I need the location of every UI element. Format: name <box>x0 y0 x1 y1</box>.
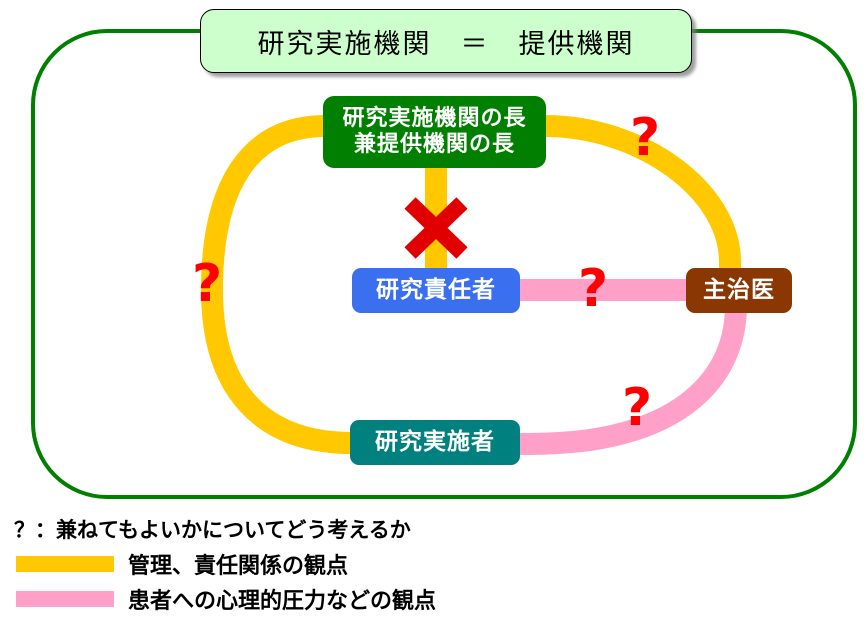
diagram-canvas: 研究実施機関 ＝ 提供機関 研究実施機関の長 兼提供機関の長 研究責任者 研究実… <box>0 0 867 612</box>
question-mark-icon-left: ? <box>192 258 222 310</box>
node-organization-head-line1: 研究実施機関の長 <box>342 106 526 132</box>
node-research-performer-label: 研究実施者 <box>375 429 495 456</box>
node-organization-head-line2: 兼提供機関の長 <box>342 132 526 158</box>
question-mark-icon-bottom-right: ? <box>622 382 652 434</box>
legend: ？：兼ねてもよいかについてどう考えるか 管理、責任関係の観点 患者への心理的圧力… <box>8 514 608 618</box>
legend-item-management: 管理、責任関係の観点 <box>8 548 608 580</box>
node-attending-physician-label: 主治医 <box>703 277 775 304</box>
page-title: 研究実施機関 ＝ 提供機関 <box>200 9 692 73</box>
legend-swatch-pink <box>16 591 114 607</box>
legend-note: ？：兼ねてもよいかについてどう考えるか <box>14 514 608 544</box>
yellow-track-left <box>212 126 352 443</box>
legend-swatch-yellow <box>16 556 114 572</box>
page-title-text: 研究実施機関 ＝ 提供機関 <box>258 22 635 61</box>
legend-item-pressure: 患者への心理的圧力などの観点 <box>8 583 608 615</box>
node-principal-investigator-label: 研究責任者 <box>376 277 496 304</box>
legend-label-management: 管理、責任関係の観点 <box>128 548 348 580</box>
node-principal-investigator[interactable]: 研究責任者 <box>352 268 520 313</box>
legend-label-pressure: 患者への心理的圧力などの観点 <box>128 583 436 615</box>
node-attending-physician[interactable]: 主治医 <box>686 268 792 313</box>
question-mark-icon-top-right: ? <box>630 112 660 164</box>
node-research-performer[interactable]: 研究実施者 <box>350 420 520 465</box>
node-organization-head[interactable]: 研究実施機関の長 兼提供機関の長 <box>323 96 546 168</box>
question-mark-icon-middle: ? <box>578 263 608 315</box>
